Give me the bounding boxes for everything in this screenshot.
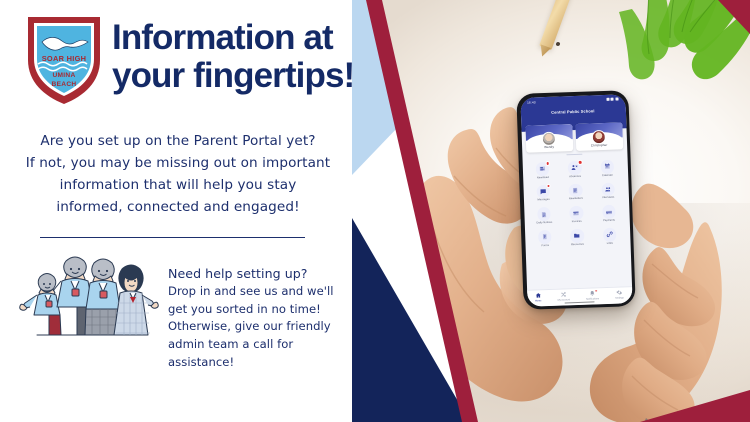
tab-label: Settings xyxy=(615,296,624,299)
crest-place-2: BEACH xyxy=(52,81,77,88)
app-tile-label: Newsfeed xyxy=(537,177,549,180)
app-school-title: Central Public School xyxy=(520,107,625,116)
content-panel: SOAR HIGH UMINA BEACH Information at you… xyxy=(0,0,400,422)
app-tile[interactable]: Payments xyxy=(592,203,625,226)
app-tile-grid: Newsfeed Absences xyxy=(522,153,630,250)
absences-icon xyxy=(568,161,582,175)
school-crest: SOAR HIGH UMINA BEACH xyxy=(22,12,106,108)
resources-icon xyxy=(570,229,584,243)
app-tile[interactable]: Newsletters xyxy=(559,181,592,204)
payments-icon xyxy=(602,205,616,219)
help-line: assistance! xyxy=(168,354,346,372)
profile-cards: Wendy Christopher xyxy=(521,119,627,153)
app-tile-label: Links xyxy=(607,242,613,245)
invoices-icon xyxy=(569,206,583,220)
page-title: Information at your fingertips! xyxy=(112,19,422,95)
notices-icon xyxy=(537,207,551,221)
body-line: If not, you may be missing out on import… xyxy=(18,152,338,174)
help-line: admin team a call for xyxy=(168,336,346,354)
help-line: Otherwise, give our friendly xyxy=(168,318,346,336)
help-heading: Need help setting up? xyxy=(168,264,346,283)
tab-label: My Account xyxy=(558,298,570,301)
battery-icon xyxy=(615,97,618,100)
status-icons xyxy=(606,97,618,100)
newsfeed-icon xyxy=(536,162,550,176)
newsletters-icon xyxy=(569,184,583,198)
app-tile[interactable]: Calendar xyxy=(591,157,624,180)
app-tile-label: Payments xyxy=(603,220,615,223)
notification-badge xyxy=(546,184,551,189)
home-icon xyxy=(535,292,541,298)
shuffle-icon xyxy=(560,291,566,297)
crest-place-1: UMINA xyxy=(52,72,75,79)
bottom-tab-bar: Home My Account Notifications xyxy=(527,286,633,307)
notification-badge xyxy=(578,160,583,165)
app-tile-label: Invoices xyxy=(572,221,582,224)
body-line: information that will help you stay xyxy=(18,174,338,196)
tab-label: Notifications xyxy=(586,297,599,300)
body-line: Are you set up on the Parent Portal yet? xyxy=(18,130,338,152)
app-tile-label: Absences xyxy=(569,176,581,179)
app-tile[interactable]: Links xyxy=(593,225,626,248)
wifi-icon xyxy=(610,98,613,101)
tab-home[interactable]: Home xyxy=(535,292,542,302)
tab-my-account[interactable]: My Account xyxy=(557,291,570,301)
notification-badge xyxy=(594,289,598,293)
poster-canvas: 16:43 Central Public School xyxy=(0,0,750,422)
smartphone: 16:43 Central Public School xyxy=(516,90,635,310)
app-tile-label: Daily Notices xyxy=(537,222,553,225)
app-tile[interactable]: Newsfeed xyxy=(526,159,559,182)
status-time: 16:43 xyxy=(527,100,536,104)
app-tile-label: Newsletters xyxy=(569,198,583,201)
app-tile[interactable]: Resources xyxy=(561,226,594,249)
app-tile[interactable]: Absences xyxy=(558,158,591,181)
student-4 xyxy=(114,265,158,335)
crest-motto: SOAR HIGH xyxy=(42,54,87,63)
app-tile[interactable]: Invoices xyxy=(560,204,593,227)
calendar-icon xyxy=(600,160,614,174)
gear-icon xyxy=(616,289,622,295)
tab-settings[interactable]: Settings xyxy=(615,289,624,299)
tab-label: Home xyxy=(535,299,541,302)
profile-card[interactable]: Christopher xyxy=(575,122,623,151)
app-tile-label: Messages xyxy=(538,199,550,202)
body-line: informed, connected and engaged! xyxy=(18,196,338,218)
messages-icon xyxy=(536,185,550,199)
app-tile-label: Calendar xyxy=(602,174,613,177)
links-icon xyxy=(603,228,617,242)
students-illustration xyxy=(14,247,166,339)
profile-card-banner xyxy=(575,122,622,139)
app-tile-label: Forms xyxy=(541,245,549,248)
app-tile[interactable]: Messages xyxy=(527,182,560,205)
body-paragraph: Are you set up on the Parent Portal yet?… xyxy=(18,130,338,218)
headline-line-1: Information at xyxy=(112,18,333,57)
phone-screen: 16:43 Central Public School xyxy=(520,94,632,307)
profile-card[interactable]: Wendy xyxy=(525,124,573,153)
app-tile[interactable]: Forms xyxy=(528,227,561,250)
notification-badge xyxy=(545,161,550,166)
profile-card-banner xyxy=(525,124,572,141)
app-tile[interactable]: Interviews xyxy=(592,180,625,203)
app-tile-label: Resources xyxy=(571,243,584,246)
app-tile[interactable]: Daily Notices xyxy=(528,205,561,228)
headline-line-2: your fingertips! xyxy=(112,57,422,95)
app-tile-label: Interviews xyxy=(602,197,614,200)
interviews-icon xyxy=(601,182,615,196)
status-bar: 16:43 xyxy=(520,94,625,105)
divider xyxy=(40,237,305,238)
forms-icon xyxy=(538,230,552,244)
tab-notifications[interactable]: Notifications xyxy=(586,290,599,300)
help-line: get you sorted in no time! xyxy=(168,301,346,319)
help-paragraph: Need help setting up? Drop in and see us… xyxy=(168,264,346,371)
student-1 xyxy=(20,274,61,336)
help-line: Drop in and see us and we'll xyxy=(168,283,346,301)
signal-icon xyxy=(606,98,609,101)
